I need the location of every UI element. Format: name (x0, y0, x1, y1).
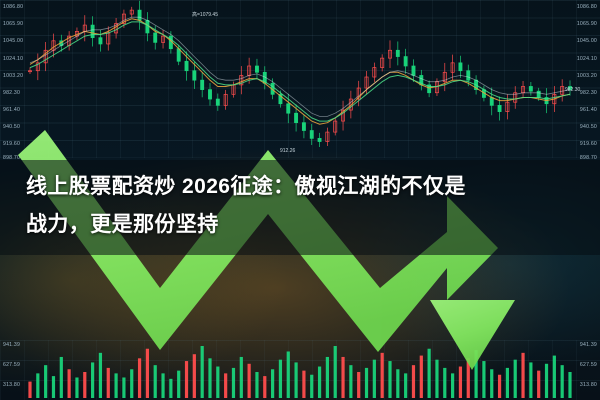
stock-article-banner: 1086.80 1065.90 1045.00 1024.10 1003.20 … (0, 0, 600, 400)
headline-line-2: 战力，更是那份坚持 (26, 206, 578, 244)
page-title: 线上股票配资炒 2026征途：傲视江湖的不仅是 战力，更是那份坚持 (26, 168, 578, 244)
headline-line-1: 线上股票配资炒 2026征途：傲视江湖的不仅是 (26, 168, 578, 206)
